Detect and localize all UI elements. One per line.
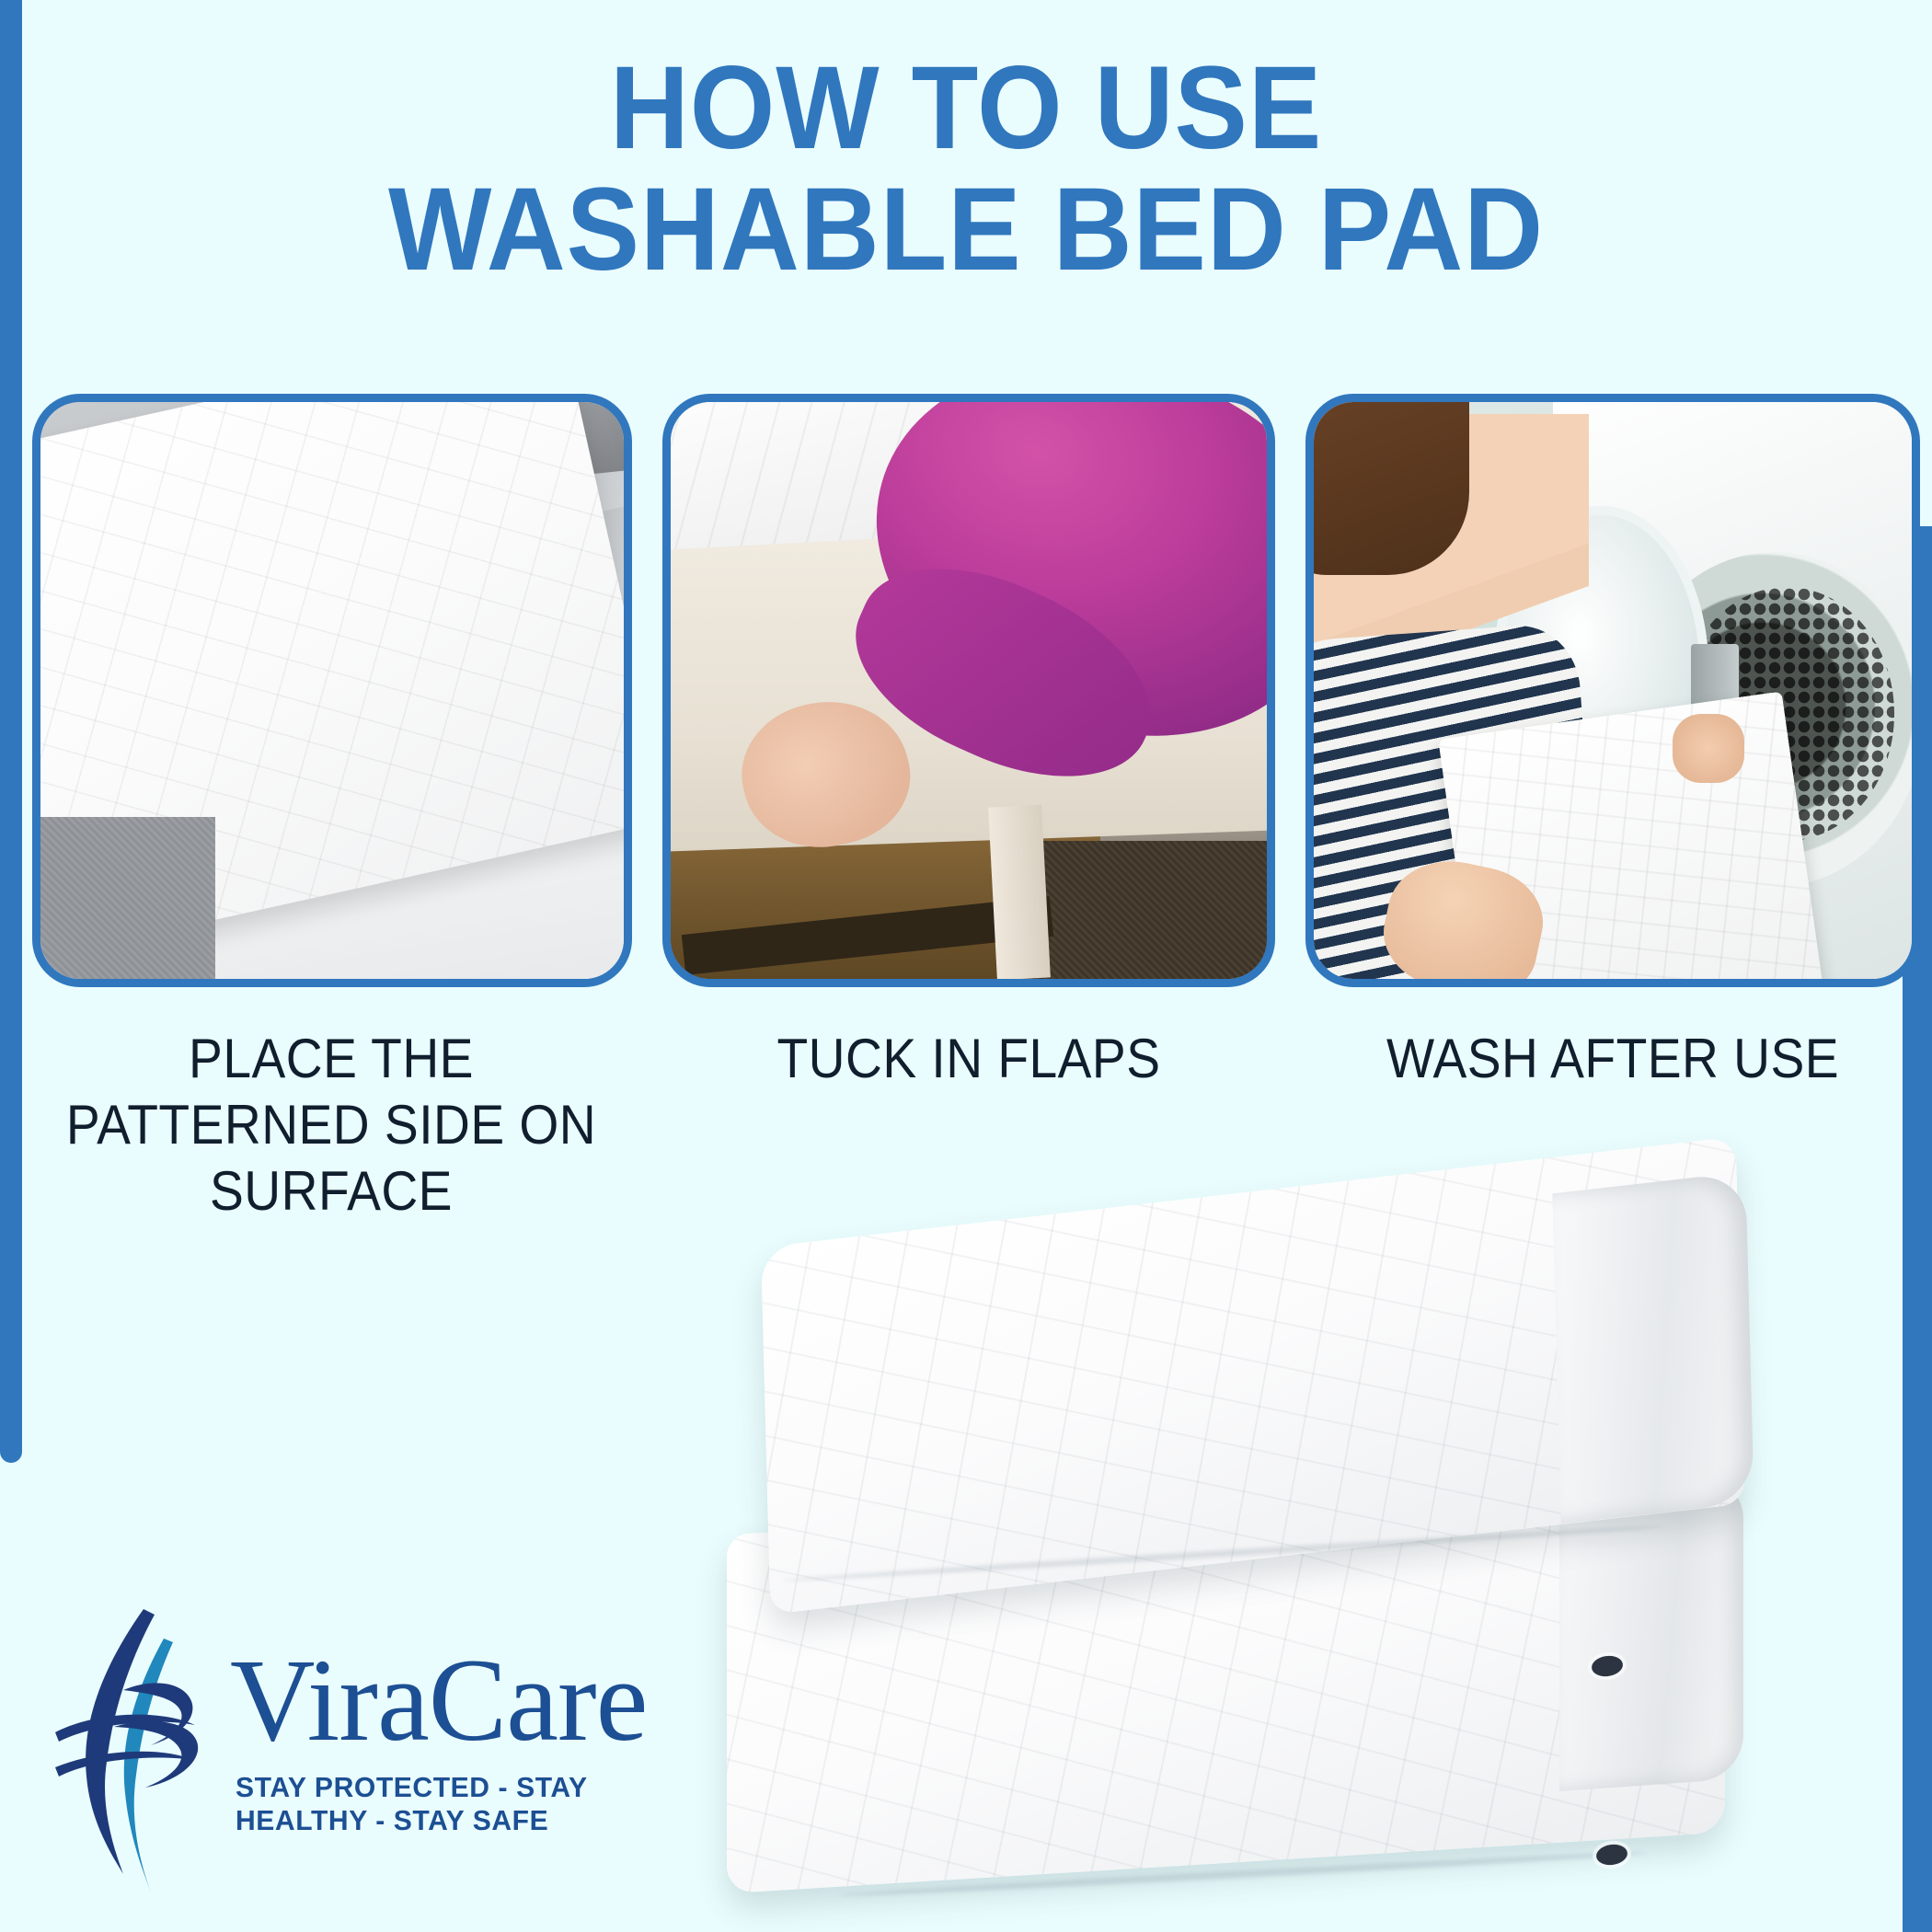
brand-logo: ViraCare STAY PROTECTED - STAY HEALTHY -… — [55, 1605, 718, 1900]
woman-hair — [1314, 402, 1469, 575]
step-caption-3: WASH AFTER USE — [1330, 1026, 1896, 1092]
step-photo-row — [0, 394, 1932, 987]
title-line-1: HOW TO USE — [68, 48, 1865, 169]
brand-tagline: STAY PROTECTED - STAY HEALTHY - STAY SAF… — [236, 1771, 712, 1837]
mattress-corner-fabric — [40, 817, 215, 979]
step-caption-1: PLACE THE PATTERNED SIDE ON SURFACE — [35, 1026, 627, 1225]
bed-frame-leg — [988, 805, 1051, 979]
infographic-page: HOW TO USE WASHABLE BED PAD — [0, 0, 1932, 1932]
page-title: HOW TO USE WASHABLE BED PAD — [0, 48, 1932, 291]
step-caption-2: TUCK IN FLAPS — [687, 1026, 1251, 1092]
photo-washing-machine — [1314, 402, 1912, 979]
viracare-logo-mark-icon — [55, 1605, 221, 1900]
carpet-floor — [1029, 841, 1267, 979]
woman-hand-upper — [1673, 714, 1744, 783]
photo-pad-on-bed — [40, 402, 624, 979]
folded-pad-bottom-roll — [1559, 1475, 1743, 1791]
photo-tucking-flaps — [671, 402, 1267, 979]
hero-product-image — [727, 1118, 1794, 1918]
step-photo-2 — [662, 394, 1275, 987]
title-line-2: WASHABLE BED PAD — [68, 169, 1865, 291]
brand-text: ViraCare STAY PROTECTED - STAY HEALTHY -… — [230, 1640, 727, 1837]
step-photo-1 — [32, 394, 632, 987]
brand-wordmark: ViraCare — [230, 1640, 727, 1760]
pad-eyelet-lower — [1595, 1843, 1629, 1868]
folded-pad-top-roll — [1552, 1172, 1754, 1524]
step-photo-3 — [1305, 394, 1920, 987]
